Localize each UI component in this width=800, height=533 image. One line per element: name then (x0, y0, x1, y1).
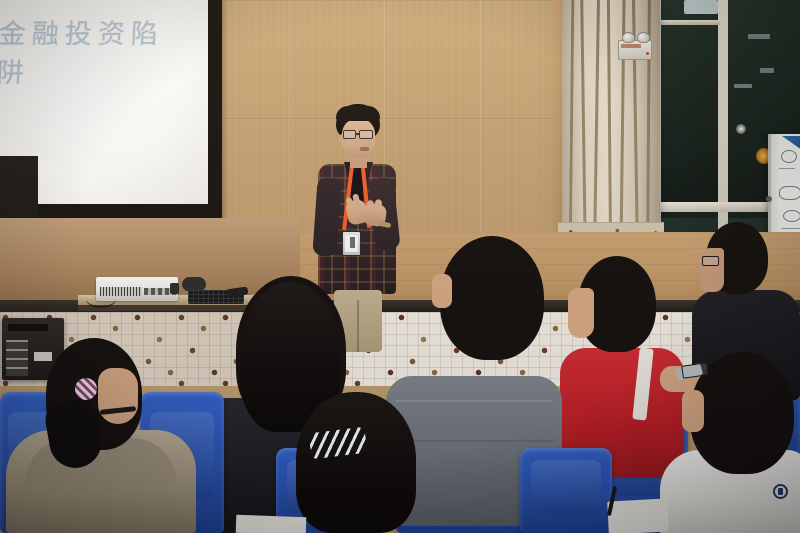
chair[interactable] (520, 448, 612, 533)
emergency-light-led (646, 52, 649, 55)
whiteboard-sketch (781, 150, 797, 163)
audience-head (296, 392, 416, 533)
whiteboard-sketch (781, 228, 800, 229)
presenter-hair-fringe (336, 106, 380, 121)
ceiling-light-reflection (734, 84, 752, 88)
lecture-hall-photo: 金融投资陷阱 (0, 0, 800, 533)
computer-front-panel (6, 340, 28, 376)
emergency-light-icon (618, 40, 652, 60)
window-transom (658, 20, 720, 25)
ceiling-light-reflection (748, 34, 770, 39)
whiteboard-sketch (779, 168, 795, 169)
window-bright-reflection (684, 0, 718, 14)
computer-drive-slot (8, 324, 48, 331)
presenter-glasses-icon (343, 130, 356, 139)
whiteboard-sketch (779, 186, 800, 200)
presenter-mouth (360, 147, 369, 151)
audience-head (440, 236, 544, 360)
ceiling-light-reflection (760, 68, 774, 73)
hair-tie (75, 378, 97, 400)
presenter-trouser-seam (357, 300, 359, 352)
lamp-reflection (736, 124, 746, 134)
projector-lens (170, 283, 179, 294)
badge-photo (350, 237, 355, 248)
audience-neck (568, 288, 594, 338)
notebook-paper (607, 498, 669, 533)
audience-face (700, 248, 724, 292)
computer-mouse[interactable] (182, 277, 206, 291)
audience-ear (432, 274, 452, 308)
whiteboard-sketch (783, 210, 800, 222)
paper-sheet (236, 515, 307, 533)
audience-glasses-icon (702, 256, 719, 266)
emergency-light-label-strip (621, 44, 641, 48)
audience-shirt-fold (392, 440, 554, 442)
shirt-logo-inner (778, 488, 783, 495)
cable (86, 290, 116, 308)
whiteboard-hinge (766, 196, 772, 202)
presenter-glasses-icon (359, 130, 373, 139)
glass-pane (658, 0, 720, 208)
slide-title-text: 金融投资陷阱 (0, 12, 180, 90)
computer-label (34, 352, 52, 361)
audience-neck (98, 368, 138, 424)
audience-shirt-fold (396, 400, 552, 402)
presenter-glasses-bridge (355, 133, 360, 135)
audience-ear (682, 390, 704, 432)
